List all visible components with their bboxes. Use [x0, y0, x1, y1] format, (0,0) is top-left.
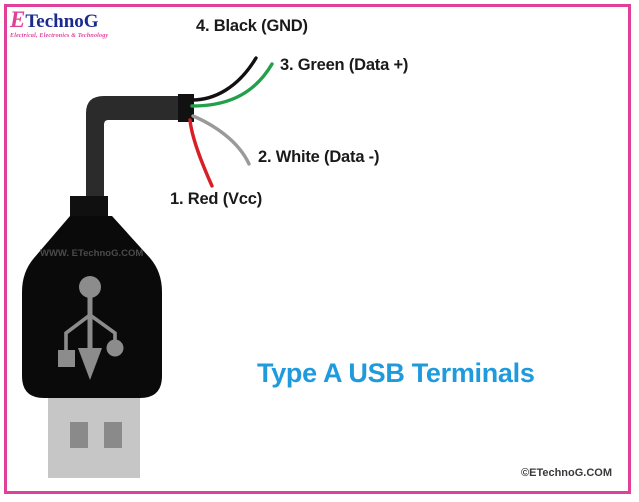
- copyright-credit: ©ETechnoG.COM: [521, 467, 612, 479]
- diagram-canvas: ETechnoG Electrical, Electronics & Techn…: [0, 0, 639, 502]
- diagram-title: Type A USB Terminals: [257, 358, 535, 389]
- wire-label-red: 1. Red (Vcc): [170, 190, 262, 209]
- wire-red: [190, 120, 212, 186]
- watermark-text: WWW. ETechnoG.COM: [40, 248, 143, 259]
- wire-label-white: 2. White (Data -): [258, 148, 379, 167]
- shell-notch-left: [70, 422, 88, 448]
- usb-metal-shell: [48, 398, 140, 478]
- wire-label-green: 3. Green (Data +): [280, 56, 408, 75]
- wire-label-black: 4. Black (GND): [196, 17, 308, 36]
- cable-end-block: [178, 94, 194, 122]
- shell-notch-right: [104, 422, 122, 448]
- connector-neck: [70, 196, 108, 218]
